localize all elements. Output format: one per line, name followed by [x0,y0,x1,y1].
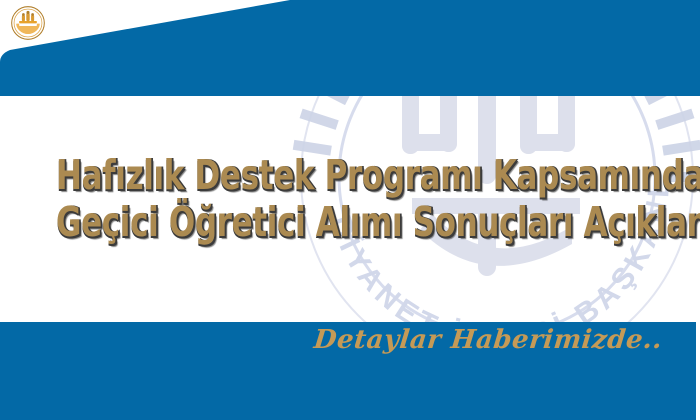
bottom-blue-band [0,322,696,420]
headline-line-2: Geçici Öğretici Alımı Sonuçları Açıkland… [56,199,644,246]
top-blue-band [0,0,700,96]
news-banner: DİYANET İŞLERİ BAŞKANLIĞI [0,0,700,420]
svg-text:DİYANET İŞLERİ BAŞKANLIĞI: DİYANET İŞLERİ BAŞKANLIĞI [282,0,676,356]
headline: Hafızlık Destek Programı Kapsamında Geçi… [0,152,700,246]
headline-line-1: Hafızlık Destek Programı Kapsamında [56,152,644,199]
diyanet-logo-icon [11,6,45,40]
